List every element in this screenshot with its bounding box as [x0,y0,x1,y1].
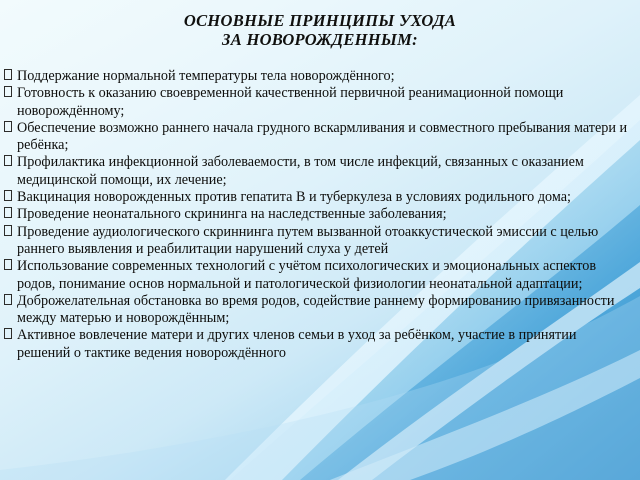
bullet-box-icon [4,69,12,80]
list-item: Готовность к оказанию своевременной каче… [4,85,630,120]
bullet-box-icon [4,225,12,236]
list-item: Поддержание нормальной температуры тела … [4,68,630,85]
bullet-box-icon [4,259,12,270]
list-item-text: Вакцинация новорожденных против гепатита… [17,189,630,206]
bullet-box-icon [4,86,12,97]
list-item-text: Проведение аудиологического скриннинга п… [17,224,630,259]
list-item: Доброжелательная обстановка во время род… [4,293,630,328]
list-item-text: Поддержание нормальной температуры тела … [17,68,630,85]
list-item-text: Профилактика инфекционной заболеваемости… [17,154,630,189]
list-item: Активное вовлечение матери и других член… [4,327,630,362]
bullet-box-icon [4,207,12,218]
slide-canvas: ОСНОВНЫЕ ПРИНЦИПЫ УХОДА ЗА НОВОРОЖДЕННЫМ… [0,0,640,480]
list-item-text: Активное вовлечение матери и других член… [17,327,630,362]
list-item-text: Готовность к оказанию своевременной каче… [17,85,630,120]
bullet-box-icon [4,328,12,339]
list-item: Проведение аудиологического скриннинга п… [4,224,630,259]
list-item-text: Проведение неонатального скрининга на на… [17,206,630,223]
list-item: Использование современных технологий с у… [4,258,630,293]
bullet-list: Поддержание нормальной температуры тела … [4,68,630,362]
list-item-text: Использование современных технологий с у… [17,258,630,293]
list-item-text: Доброжелательная обстановка во время род… [17,293,630,328]
bullet-box-icon [4,155,12,166]
list-item: Проведение неонатального скрининга на на… [4,206,630,223]
list-item-text: Обеспечение возможно раннего начала груд… [17,120,630,155]
slide-title: ОСНОВНЫЕ ПРИНЦИПЫ УХОДА ЗА НОВОРОЖДЕННЫМ… [0,11,640,49]
bullet-box-icon [4,190,12,201]
bullet-box-icon [4,121,12,132]
list-item: Обеспечение возможно раннего начала груд… [4,120,630,155]
list-item: Вакцинация новорожденных против гепатита… [4,189,630,206]
title-line-2: ЗА НОВОРОЖДЕННЫМ: [0,30,640,49]
title-line-1: ОСНОВНЫЕ ПРИНЦИПЫ УХОДА [0,11,640,30]
bullet-box-icon [4,294,12,305]
list-item: Профилактика инфекционной заболеваемости… [4,154,630,189]
